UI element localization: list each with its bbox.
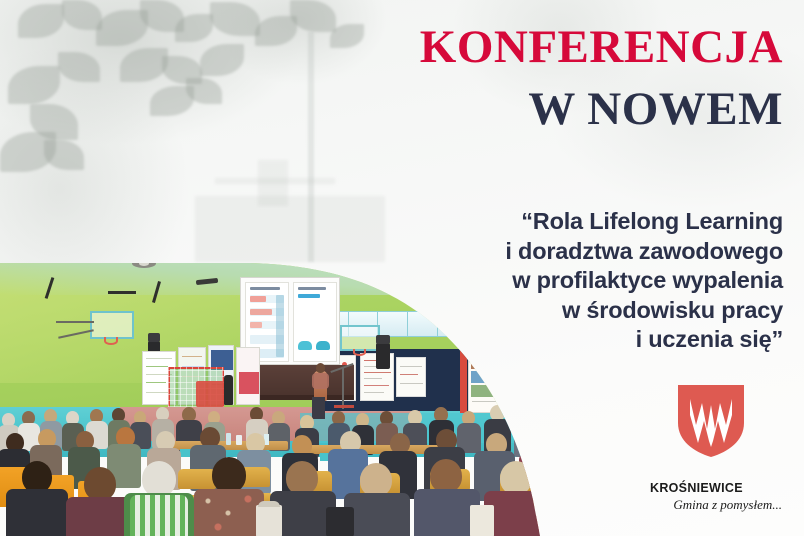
- quote-line-3: w profilaktyce wypalenia: [363, 266, 783, 296]
- conference-poster: KONFERENCJA W NOWEM “Rola Lifelong Learn…: [0, 0, 804, 536]
- quote-line-5: i uczenia się”: [363, 325, 783, 355]
- conference-topic-quote: “Rola Lifelong Learning i doradztwa zawo…: [363, 207, 783, 355]
- krosniewice-logo: KROŚNIEWICE Gmina z pomysłem...: [650, 385, 784, 515]
- logo-municipality-name: KROŚNIEWICE: [650, 481, 784, 495]
- quote-line-1: “Rola Lifelong Learning: [363, 207, 783, 237]
- quote-line-2: i doradztwa zawodowego: [363, 237, 783, 267]
- headline-secondary: W NOWEM: [528, 84, 783, 134]
- quote-line-4: w środowisku pracy: [363, 296, 783, 326]
- logo-tagline: Gmina z pomysłem...: [650, 497, 784, 513]
- headline-primary: KONFERENCJA: [420, 22, 783, 72]
- coat-of-arms-shield-icon: [678, 385, 744, 457]
